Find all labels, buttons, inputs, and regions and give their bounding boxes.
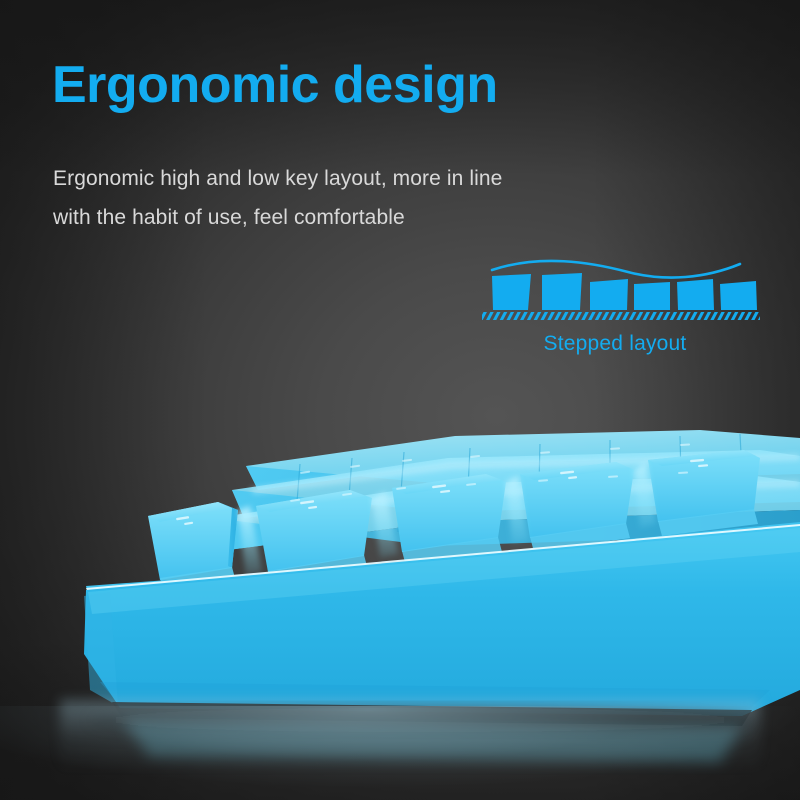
subtitle-line-1: Ergonomic high and low key layout, more … bbox=[53, 160, 502, 199]
subtitle-line-2: with the habit of use, feel comfortable bbox=[53, 199, 502, 238]
keycap-6 bbox=[720, 281, 757, 310]
marketing-banner: Ergonomic design Ergonomic high and low … bbox=[0, 0, 800, 800]
keycap-2 bbox=[542, 273, 582, 310]
keycap-1 bbox=[492, 274, 531, 310]
hatched-baseline bbox=[482, 312, 760, 320]
keycap-5 bbox=[677, 279, 714, 310]
page-subtitle: Ergonomic high and low key layout, more … bbox=[53, 160, 502, 238]
floor-sheen bbox=[0, 706, 800, 800]
keycap-profiles bbox=[492, 273, 757, 310]
page-title: Ergonomic design bbox=[52, 58, 498, 113]
keycap-3 bbox=[590, 279, 628, 310]
keycap-4 bbox=[634, 282, 670, 310]
diagram-caption: Stepped layout bbox=[470, 332, 760, 356]
